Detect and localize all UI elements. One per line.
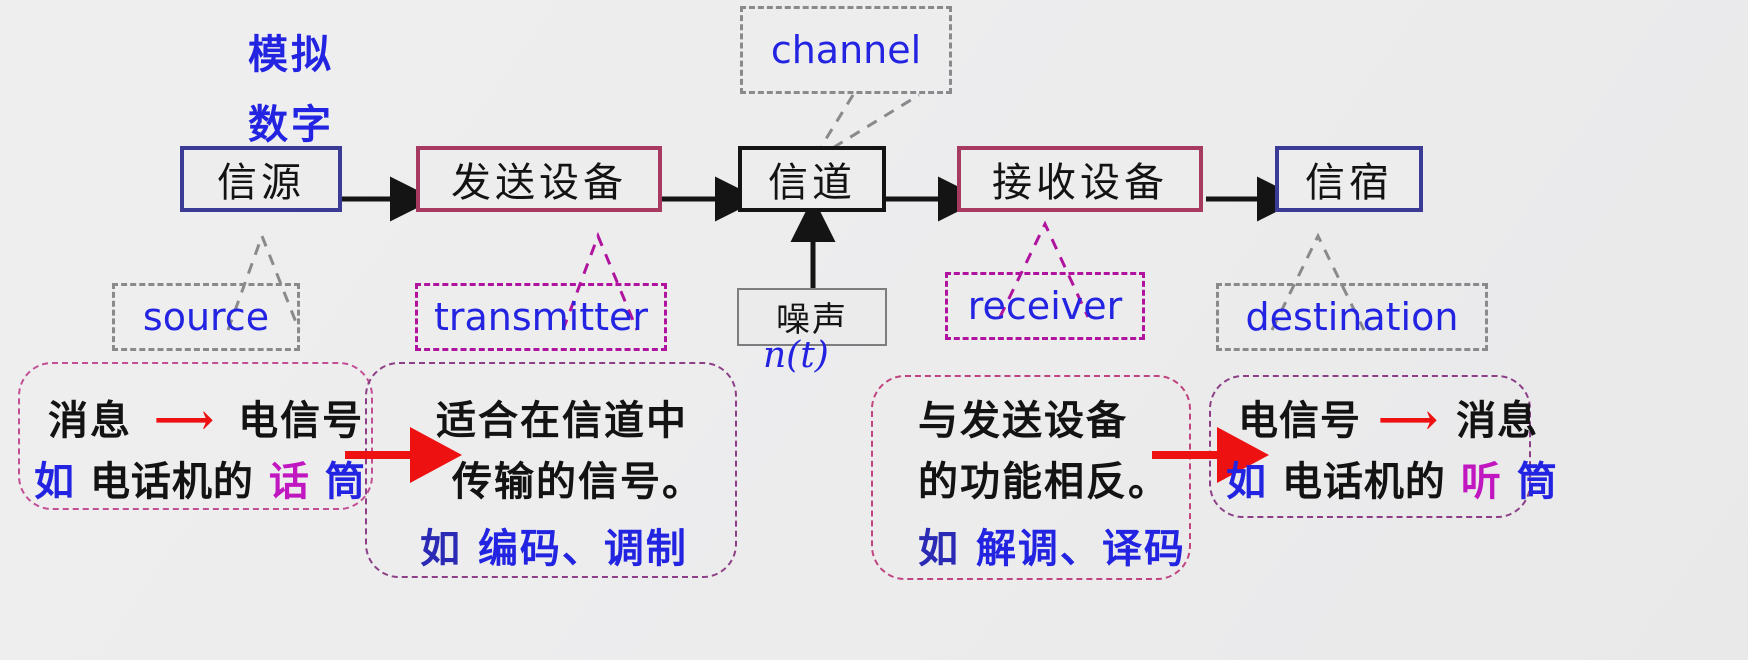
noise-symbol: n(t) (763, 335, 829, 376)
desc-destination-l1-sig: 电信号 (1238, 397, 1361, 444)
desc-source-l2-hua: 话 (269, 458, 310, 505)
desc-source-l2-ru: 如 (34, 458, 75, 505)
block-source[interactable]: 信源 (180, 146, 342, 212)
desc-source-line2: 如 电话机的 话 筒 (34, 449, 366, 507)
desc-receiver-l3-ru: 如 (918, 525, 960, 572)
callout-destination[interactable]: destination (1216, 283, 1488, 351)
desc-transmitter-l3-rest: 编码、调制 (478, 525, 688, 572)
callout-transmitter-label: transmitter (434, 295, 648, 339)
callout-transmitter[interactable]: transmitter (415, 283, 667, 351)
block-channel[interactable]: 信道 (738, 146, 886, 212)
desc-source-l1-sig: 电信号 (238, 397, 364, 444)
callout-channel[interactable]: channel (740, 6, 952, 94)
desc-transmitter-line3: 如 编码、调制 (420, 516, 688, 574)
callout-destination-label: destination (1246, 295, 1459, 339)
desc-transmitter-line1: 适合在信道中 (436, 388, 688, 446)
callout-source[interactable]: source (112, 283, 300, 351)
arrow-red-icon-1: ⟶ (148, 395, 222, 444)
desc-destination-l2-ru: 如 (1226, 458, 1267, 505)
desc-source-line1: 消息 ⟶ 电信号 (48, 388, 364, 446)
callout-source-label: source (143, 295, 269, 339)
desc-receiver-line2: 的功能相反。 (918, 449, 1170, 507)
callout-channel-label: channel (771, 28, 921, 72)
callout-receiver[interactable]: receiver (945, 272, 1145, 340)
desc-destination-line2: 如 电话机的 听 筒 (1226, 449, 1558, 507)
desc-source-l2-mid: 电话机的 (90, 458, 254, 505)
block-transmitter[interactable]: 发送设备 (416, 146, 662, 212)
desc-receiver-line3: 如 解调、译码 (918, 516, 1186, 574)
desc-source-l1-msg: 消息 (48, 397, 132, 444)
desc-destination-l2-mid: 电话机的 (1282, 458, 1446, 505)
desc-destination-l1-msg: 消息 (1456, 397, 1538, 444)
desc-receiver-l3-rest: 解调、译码 (976, 525, 1186, 572)
block-destination[interactable]: 信宿 (1275, 146, 1423, 212)
desc-destination-l2-tong: 筒 (1517, 458, 1558, 505)
block-receiver[interactable]: 接收设备 (957, 146, 1203, 212)
label-digital: 数字 (248, 92, 334, 150)
noise-label: 噪声 (776, 292, 848, 341)
desc-receiver-line1: 与发送设备 (918, 388, 1128, 446)
desc-transmitter-l3-ru: 如 (420, 525, 462, 572)
label-analog: 模拟 (248, 22, 334, 80)
desc-transmitter-line2: 传输的信号。 (452, 449, 704, 507)
desc-source-l2-tong: 筒 (325, 458, 366, 505)
arrow-red-icon-2: ⟶ (1376, 395, 1441, 444)
callout-receiver-label: receiver (968, 284, 1123, 328)
desc-destination-line1: 电信号 ⟶ 消息 (1238, 388, 1538, 446)
diagram-canvas: 模拟 数字 信源 发送设备 (0, 0, 1748, 660)
desc-destination-l2-ting: 听 (1461, 458, 1502, 505)
